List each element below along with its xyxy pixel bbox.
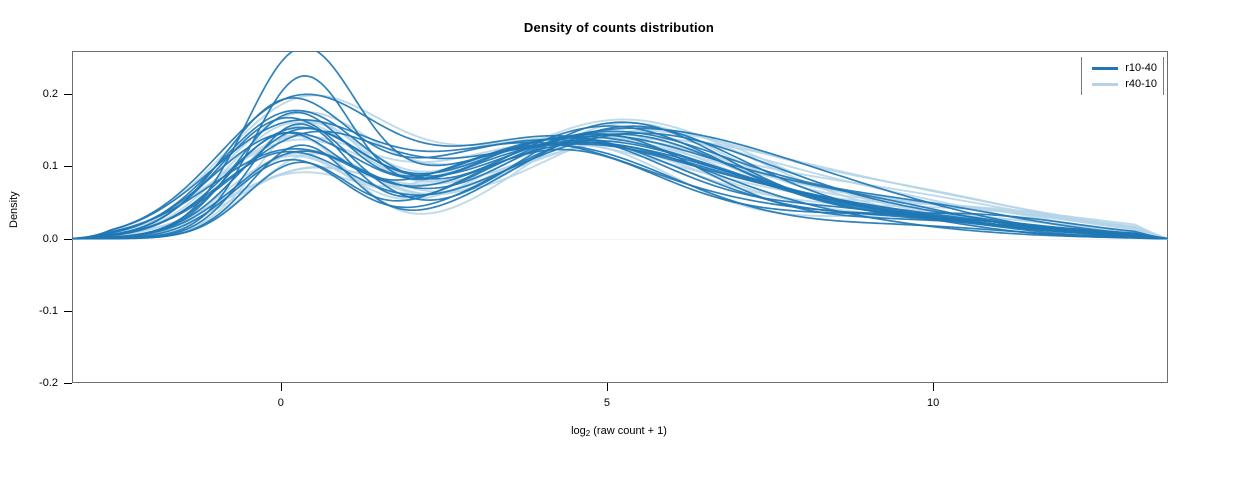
y-tick-label: 0.1 xyxy=(43,160,58,172)
x-tick-mark xyxy=(933,383,934,391)
x-axis-label-sub: 2 xyxy=(586,429,590,438)
y-tick-label: -0.2 xyxy=(39,377,58,389)
y-tick-mark xyxy=(64,383,72,384)
y-tick-mark xyxy=(64,94,72,95)
legend: r10-40r40-10 xyxy=(1081,57,1164,95)
legend-item: r40-10 xyxy=(1092,76,1157,92)
y-tick-label: 0.0 xyxy=(43,233,58,245)
density-plot-figure: Density of counts distribution Density l… xyxy=(0,0,1238,500)
legend-label: r40-10 xyxy=(1125,76,1157,92)
x-tick-label: 10 xyxy=(927,397,939,409)
legend-swatch xyxy=(1092,83,1118,86)
x-axis-title: log2 (raw count + 1) xyxy=(0,425,1238,437)
x-axis-label-base: log xyxy=(571,425,586,437)
legend-swatch xyxy=(1092,67,1118,70)
y-tick-label: -0.1 xyxy=(39,305,58,317)
y-tick-mark xyxy=(64,239,72,240)
density-curves xyxy=(72,51,1168,383)
y-tick-mark xyxy=(64,166,72,167)
x-axis-label-rest: (raw count + 1) xyxy=(590,425,667,437)
y-axis-title: Density xyxy=(8,191,20,228)
plot-area: r10-40r40-10 xyxy=(72,51,1168,383)
legend-item: r10-40 xyxy=(1092,60,1157,76)
x-tick-label: 5 xyxy=(604,397,610,409)
legend-label: r10-40 xyxy=(1125,60,1157,76)
y-tick-label: 0.2 xyxy=(43,88,58,100)
x-tick-mark xyxy=(607,383,608,391)
y-tick-mark xyxy=(64,311,72,312)
page-title: Density of counts distribution xyxy=(0,20,1238,35)
x-tick-label: 0 xyxy=(278,397,284,409)
x-tick-mark xyxy=(281,383,282,391)
